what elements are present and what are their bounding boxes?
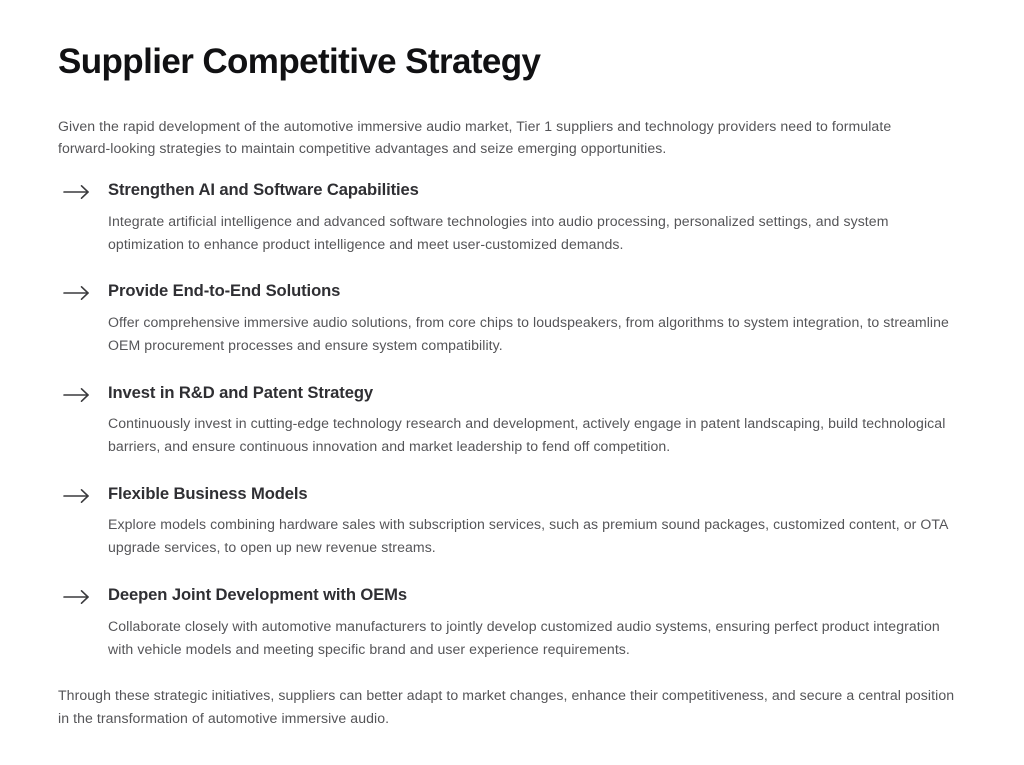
strategy-body: Collaborate closely with automotive manu… [108,615,964,661]
strategy-body: Integrate artificial intelligence and ad… [108,210,964,256]
strategy-item: Deepen Joint Development with OEMs Colla… [58,584,964,660]
closing-paragraph: Through these strategic initiatives, sup… [58,684,958,730]
page-title: Supplier Competitive Strategy [58,38,964,83]
strategy-item: Provide End-to-End Solutions Offer compr… [58,280,964,356]
strategy-body: Continuously invest in cutting-edge tech… [108,412,964,458]
strategy-heading: Strengthen AI and Software Capabilities [108,179,964,201]
arrow-right-icon [62,486,92,506]
strategy-body: Explore models combining hardware sales … [108,513,964,559]
arrow-right-icon [62,283,92,303]
strategy-item: Invest in R&D and Patent Strategy Contin… [58,382,964,458]
strategy-heading: Flexible Business Models [108,483,964,505]
strategy-heading: Deepen Joint Development with OEMs [108,584,964,606]
strategy-body: Offer comprehensive immersive audio solu… [108,311,964,357]
slide-root: Supplier Competitive Strategy Given the … [0,0,1024,765]
strategy-list: Strengthen AI and Software Capabilities … [58,179,964,660]
intro-paragraph: Given the rapid development of the autom… [58,115,942,161]
arrow-right-icon [62,385,92,405]
strategy-heading: Provide End-to-End Solutions [108,280,964,302]
arrow-right-icon [62,587,92,607]
strategy-heading: Invest in R&D and Patent Strategy [108,382,964,404]
arrow-right-icon [62,182,92,202]
strategy-item: Strengthen AI and Software Capabilities … [58,179,964,255]
strategy-item: Flexible Business Models Explore models … [58,483,964,559]
